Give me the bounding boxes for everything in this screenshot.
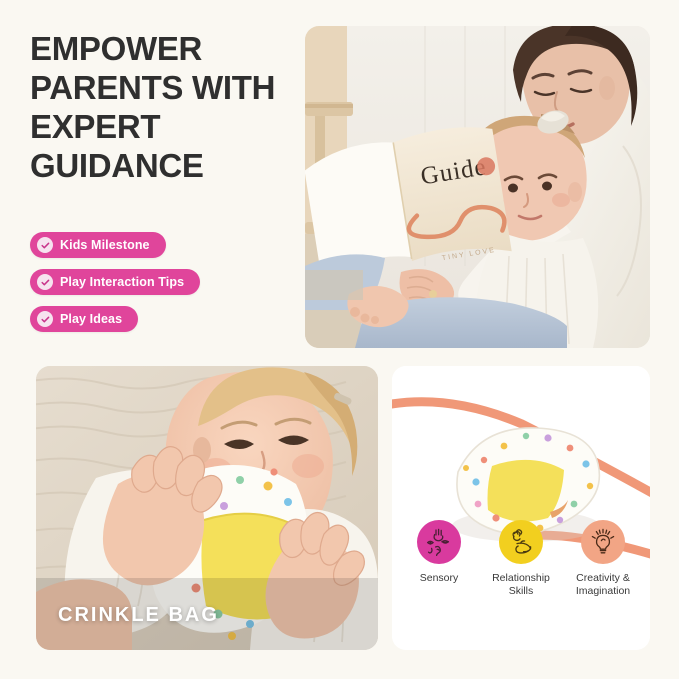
feature-creativity-imagination[interactable]: Creativity & Imagination [565, 520, 641, 599]
lightbulb-icon [581, 520, 625, 564]
feature-sensory[interactable]: Sensory [401, 520, 477, 585]
feature-label: Sensory [401, 572, 477, 585]
check-circle-icon [37, 311, 53, 327]
infographic-stage: EMPOWER PARENTS WITH EXPERT GUIDANCE Kid… [0, 0, 679, 679]
crinkle-bag-product-card [392, 366, 650, 650]
headline-line-3: EXPERT [30, 108, 305, 147]
feature-label: Relationship Skills [483, 572, 559, 599]
page-title: EMPOWER PARENTS WITH EXPERT GUIDANCE [30, 30, 305, 186]
check-circle-icon [37, 274, 53, 290]
feature-icon-list: Sensory Relationship Skills [398, 520, 644, 599]
feature-relationship-skills[interactable]: Relationship Skills [483, 520, 559, 599]
baby-holding-crinkle-bag-photo [36, 366, 378, 650]
mother-and-baby-reading-guide-photo: Guide TINY LOVE [305, 26, 650, 348]
five-senses-icon [417, 520, 461, 564]
pill-label: Play Interaction Tips [60, 275, 184, 289]
pill-label: Kids Milestone [60, 238, 150, 252]
pill-play-ideas[interactable]: Play Ideas [30, 306, 138, 332]
headline-line-2: PARENTS WITH [30, 69, 305, 108]
headline-line-1: EMPOWER [30, 30, 305, 69]
feature-pill-list: Kids Milestone Play Interaction Tips Pla… [30, 232, 200, 343]
two-hands-icon [499, 520, 543, 564]
pill-label: Play Ideas [60, 312, 122, 326]
check-circle-icon [37, 237, 53, 253]
headline-line-4: GUIDANCE [30, 147, 305, 186]
pill-play-interaction-tips[interactable]: Play Interaction Tips [30, 269, 200, 295]
pill-kids-milestone[interactable]: Kids Milestone [30, 232, 166, 258]
feature-label: Creativity & Imagination [565, 572, 641, 599]
